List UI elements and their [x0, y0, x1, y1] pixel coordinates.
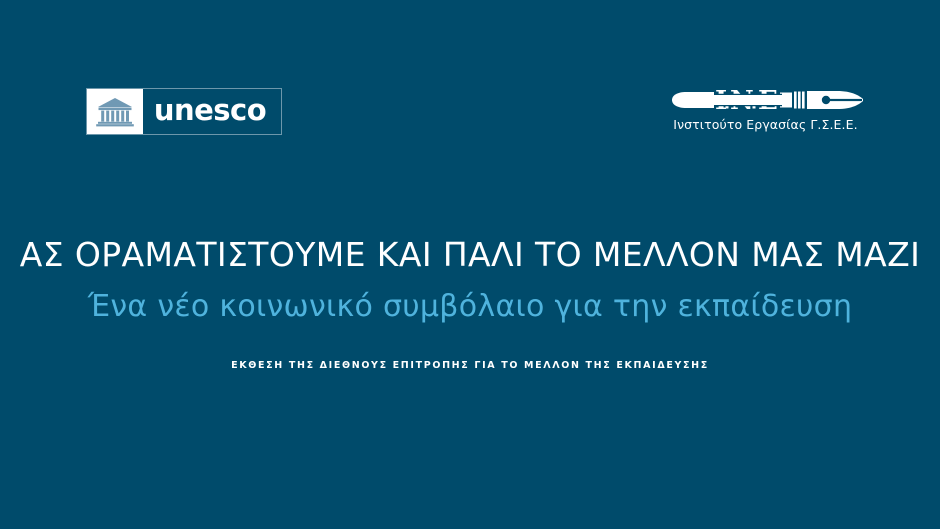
page-subtitle: Ένα νέο κοινωνικό συμβόλαιο για την εκπα…	[0, 289, 940, 325]
ine-logo[interactable]: I N E Ινστιτούτο Εργασίας Γ.Σ.Ε.Ε.	[668, 78, 863, 136]
report-cover-slide: unesco	[0, 0, 940, 529]
svg-text:E: E	[758, 86, 778, 116]
report-kicker: ΕΚΘΕΣΗ ΤΗΣ ΔΙΕΘΝΟΥΣ ΕΠΙΤΡΟΠΗΣ ΓΙΑ ΤΟ ΜΕΛ…	[0, 360, 940, 371]
unesco-wordmark: unesco	[143, 89, 281, 134]
svg-text:N: N	[730, 86, 754, 116]
ine-mark: I N E	[668, 78, 863, 118]
page-title: ΑΣ ΟΡΑΜΑΤΙΣΤΟΥΜΕ ΚΑΙ ΠΑΛΙ ΤΟ ΜΕΛΛΟΝ ΜΑΣ …	[0, 236, 940, 274]
greek-temple-icon	[95, 96, 135, 128]
svg-text:I: I	[715, 86, 727, 116]
fountain-pen-nib-icon: I N E	[668, 78, 863, 118]
ine-caption: Ινστιτούτο Εργασίας Γ.Σ.Ε.Ε.	[668, 117, 863, 132]
unesco-logo[interactable]: unesco	[86, 88, 282, 135]
unesco-emblem-box	[87, 89, 143, 134]
